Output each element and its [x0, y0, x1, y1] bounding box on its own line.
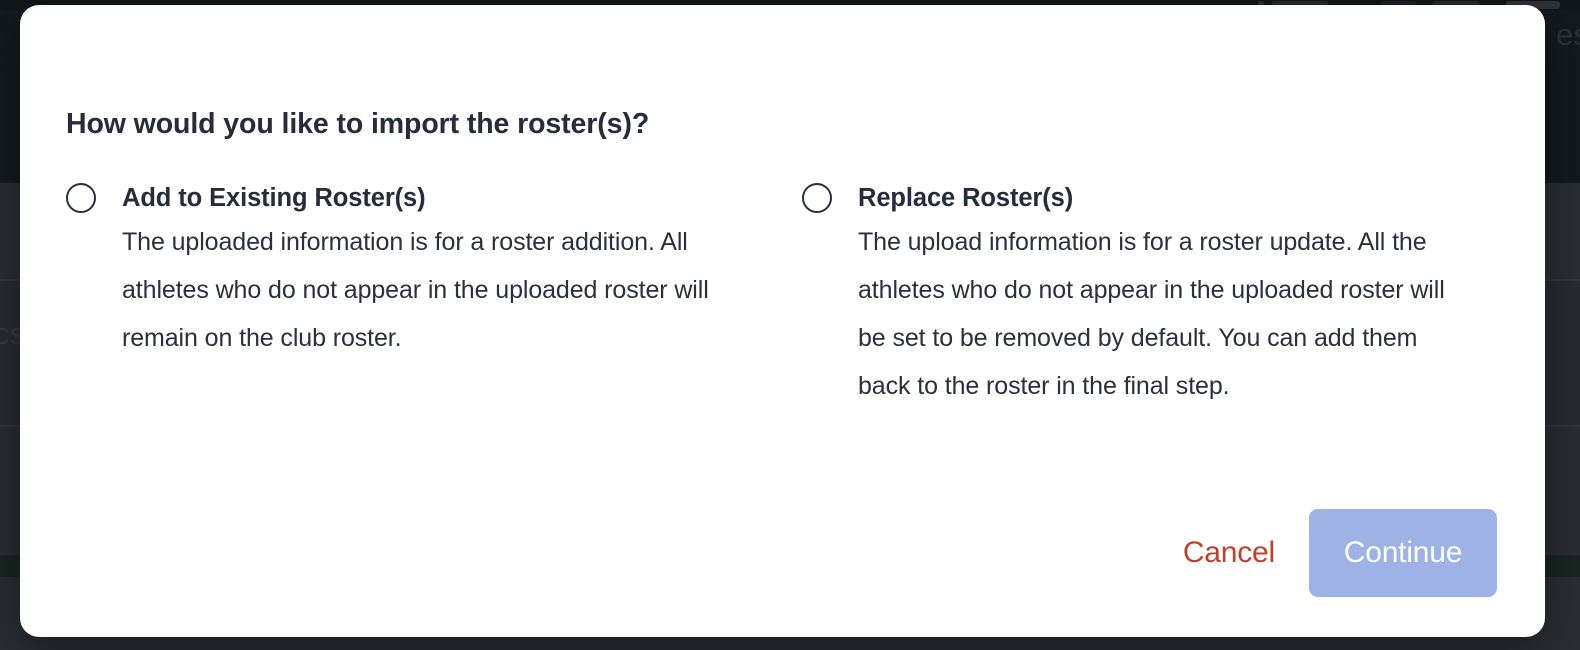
radio-add-to-existing-roster[interactable]: [66, 183, 96, 213]
continue-button[interactable]: Continue: [1309, 509, 1497, 597]
import-roster-dialog: How would you like to import the roster(…: [20, 5, 1545, 637]
option-add-title: Add to Existing Roster(s): [122, 178, 712, 218]
radio-replace-roster[interactable]: [802, 183, 832, 213]
option-add-description: The uploaded information is for a roster…: [122, 218, 712, 362]
cancel-button[interactable]: Cancel: [1169, 526, 1289, 580]
option-replace-roster[interactable]: Replace Roster(s) The upload information…: [802, 178, 1448, 410]
option-replace-description: The upload information is for a roster u…: [858, 218, 1448, 410]
option-add-to-existing-roster[interactable]: Add to Existing Roster(s) The uploaded i…: [66, 178, 712, 410]
option-replace-body: Replace Roster(s) The upload information…: [858, 178, 1448, 410]
option-add-body: Add to Existing Roster(s) The uploaded i…: [122, 178, 712, 362]
dialog-footer: Cancel Continue: [1169, 509, 1497, 597]
roster-import-options: Add to Existing Roster(s) The uploaded i…: [66, 178, 1499, 410]
option-replace-title: Replace Roster(s): [858, 178, 1448, 218]
dialog-title: How would you like to import the roster(…: [66, 108, 649, 141]
